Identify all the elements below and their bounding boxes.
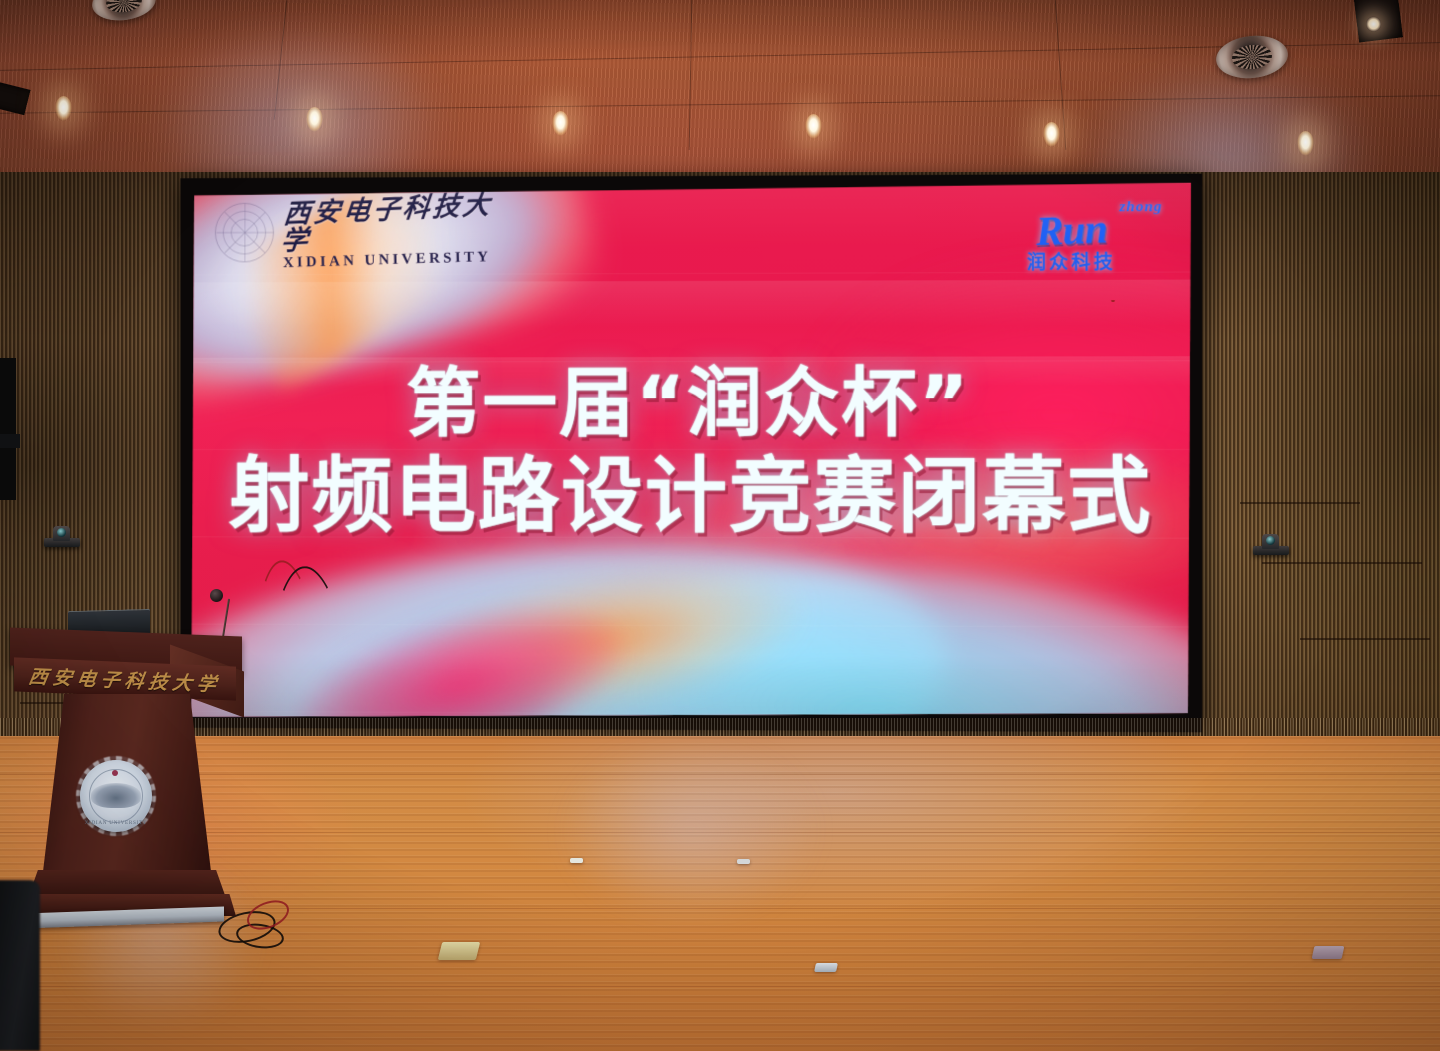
wall-seam (1240, 502, 1360, 504)
foreground-dark-object (0, 880, 40, 1051)
downlight (1297, 131, 1314, 156)
lectern-podium: 西安电子科技大学 XIDIAN UNIVERSITY (10, 618, 260, 948)
speaker-fins (105, 0, 143, 14)
floor-marker (570, 858, 583, 863)
floor-marker (737, 859, 750, 864)
camera-lens-icon (57, 528, 66, 537)
floor-light-reflection (560, 736, 820, 926)
downlight (55, 96, 72, 121)
downlight (1043, 122, 1060, 147)
emblem-accent-dot (112, 770, 118, 776)
downlight (805, 114, 822, 139)
microphone-icon (210, 589, 223, 602)
wall-dark-panel-left (0, 358, 16, 500)
ceiling-light-slot-right (1353, 0, 1403, 42)
wall-mounted-ptz-camera-left (44, 527, 80, 547)
camera-lens-icon (1266, 536, 1275, 545)
floor-outlet-box-2 (814, 963, 838, 972)
spotlight-fixture (1365, 16, 1382, 33)
auditorium-stage-photo: 西安电子科技大学 XIDIAN UNIVERSITY zhong Run 润众科… (0, 0, 1440, 1051)
podium-plinth (28, 870, 226, 898)
cable-segment (1110, 300, 1116, 304)
emblem-caption: XIDIAN UNIVERSITY (80, 820, 152, 826)
downlight (552, 111, 569, 136)
floor-outlet-box-1 (438, 942, 480, 960)
speaker-fins (1231, 43, 1274, 71)
ceiling (0, 0, 1440, 178)
downlight (306, 107, 323, 132)
wall-seam (1262, 562, 1422, 564)
wall-seam (1300, 638, 1430, 640)
wall-vent-left (0, 434, 20, 448)
podium-inscription: 西安电子科技大学 (27, 662, 223, 697)
emblem-dove-icon (91, 783, 141, 807)
floor-outlet-box-3 (1312, 946, 1345, 959)
wall-mounted-ptz-camera-right (1253, 535, 1289, 555)
podium-university-emblem: XIDIAN UNIVERSITY (80, 760, 152, 832)
